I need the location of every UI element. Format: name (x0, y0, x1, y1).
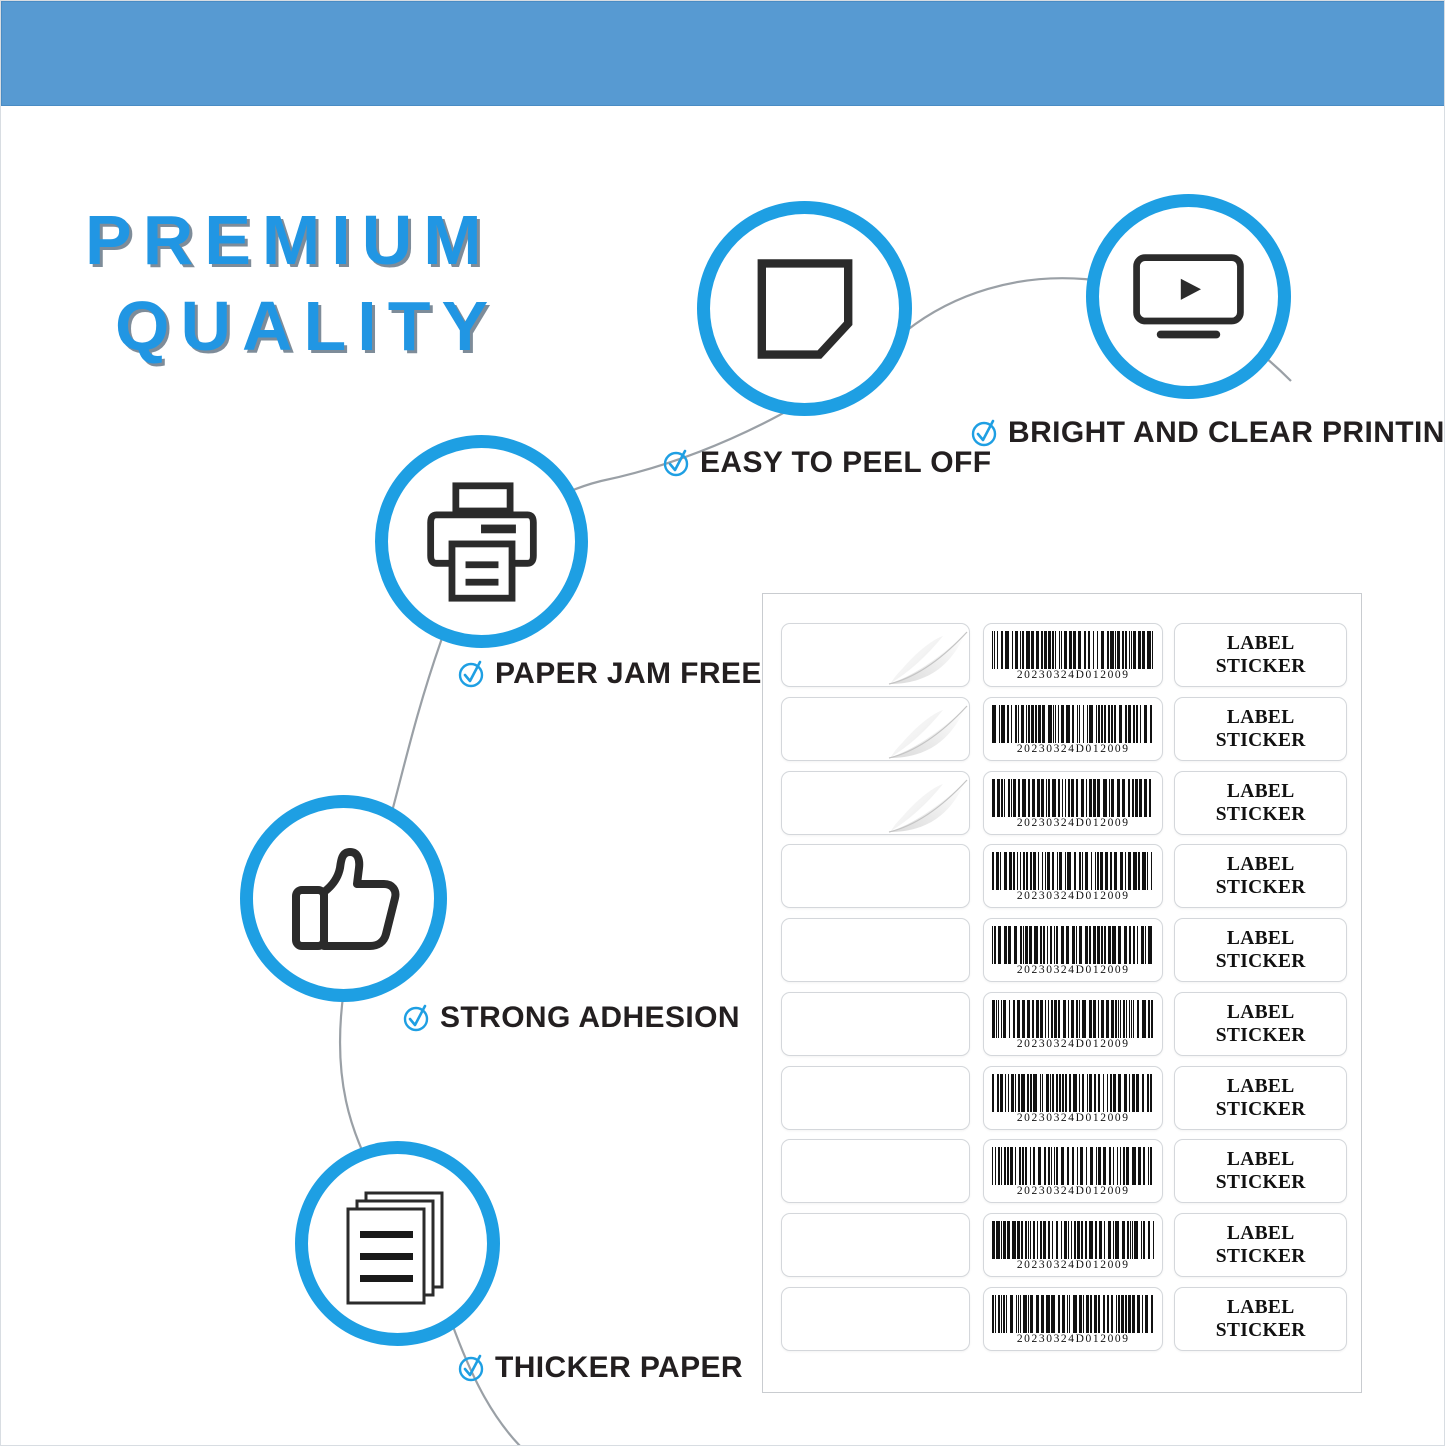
table-row: 20230324D012009LABELSTICKER (781, 843, 1347, 909)
barcode-label-cell[interactable]: 20230324D012009 (983, 918, 1163, 982)
label-text: LABELSTICKER (1216, 1001, 1306, 1047)
barcode-label-cell[interactable]: 20230324D012009 (983, 1287, 1163, 1351)
barcode-image (990, 1074, 1156, 1112)
barcode-label-cell[interactable]: 20230324D012009 (983, 623, 1163, 687)
barcode-image (990, 926, 1156, 964)
barcode-number: 20230324D012009 (1017, 1186, 1130, 1197)
barcode-image (990, 852, 1156, 890)
bubble-thicker-paper (295, 1141, 500, 1346)
label-text: LABELSTICKER (1216, 632, 1306, 678)
label-text: LABELSTICKER (1216, 1296, 1306, 1342)
bubble-paper-jam-free (375, 435, 588, 648)
blank-label-cell[interactable] (781, 918, 970, 982)
title-line-1: PREMIUM (85, 197, 705, 283)
blank-label-cell[interactable] (781, 623, 970, 687)
title-line-2: QUALITY (85, 283, 705, 369)
barcode-image (990, 705, 1156, 743)
blank-label-cell[interactable] (781, 697, 970, 761)
blank-label-cell[interactable] (781, 771, 970, 835)
caption-thicker-paper: THICKER PAPER (456, 1351, 743, 1385)
infographic-page: EASY TO PEEL OFF BRIGHT AND CLEAR PRINTI… (0, 0, 1445, 1446)
blank-label-cell[interactable] (781, 1287, 970, 1351)
top-color-band (1, 1, 1445, 106)
table-row: 20230324D012009LABELSTICKER (781, 991, 1347, 1057)
caption-bright-and-clear: BRIGHT AND CLEAR PRINTING (969, 416, 1445, 450)
blank-label-cell[interactable] (781, 992, 970, 1056)
barcode-label-cell[interactable]: 20230324D012009 (983, 1213, 1163, 1277)
text-label-cell[interactable]: LABELSTICKER (1174, 1213, 1347, 1277)
peel-corner-icon (879, 626, 969, 686)
blank-label-cell[interactable] (781, 1139, 970, 1203)
caption-label: EASY TO PEEL OFF (700, 446, 991, 480)
barcode-label-cell[interactable]: 20230324D012009 (983, 771, 1163, 835)
bubble-bright-and-clear (1086, 194, 1291, 399)
label-text: LABELSTICKER (1216, 1148, 1306, 1194)
barcode-number: 20230324D012009 (1017, 670, 1130, 681)
table-row: 20230324D012009LABELSTICKER (781, 1212, 1347, 1278)
caption-paper-jam-free: PAPER JAM FREE (456, 657, 762, 691)
barcode-number: 20230324D012009 (1017, 1260, 1130, 1271)
barcode-label-cell[interactable]: 20230324D012009 (983, 697, 1163, 761)
label-text: LABELSTICKER (1216, 706, 1306, 752)
bubble-easy-to-peel-off (697, 201, 912, 416)
text-label-cell[interactable]: LABELSTICKER (1174, 844, 1347, 908)
table-row: 20230324D012009LABELSTICKER (781, 1138, 1347, 1204)
barcode-number: 20230324D012009 (1017, 965, 1130, 976)
table-row: 20230324D012009LABELSTICKER (781, 622, 1347, 688)
barcode-number: 20230324D012009 (1017, 891, 1130, 902)
thumbs-up-icon (280, 838, 408, 960)
barcode-number: 20230324D012009 (1017, 1334, 1130, 1345)
text-label-cell[interactable]: LABELSTICKER (1174, 697, 1347, 761)
peel-corner-icon (879, 774, 969, 834)
barcode-image (990, 1221, 1156, 1259)
monitor-play-icon (1126, 242, 1251, 352)
text-label-cell[interactable]: LABELSTICKER (1174, 771, 1347, 835)
paper-stack-icon (336, 1183, 460, 1305)
check-circle-icon (661, 448, 691, 478)
page-title: PREMIUM QUALITY (85, 197, 705, 369)
table-row: 20230324D012009LABELSTICKER (781, 696, 1347, 762)
label-sheet: 20230324D012009LABELSTICKER20230324D0120… (762, 593, 1362, 1393)
barcode-label-cell[interactable]: 20230324D012009 (983, 844, 1163, 908)
peel-tag-icon (745, 249, 865, 369)
bubble-strong-adhesion (240, 795, 447, 1002)
barcode-number: 20230324D012009 (1017, 1039, 1130, 1050)
caption-label: BRIGHT AND CLEAR PRINTING (1008, 416, 1445, 450)
table-row: 20230324D012009LABELSTICKER (781, 917, 1347, 983)
barcode-label-cell[interactable]: 20230324D012009 (983, 1139, 1163, 1203)
barcode-image (990, 1295, 1156, 1333)
table-row: 20230324D012009LABELSTICKER (781, 770, 1347, 836)
check-circle-icon (969, 418, 999, 448)
text-label-cell[interactable]: LABELSTICKER (1174, 918, 1347, 982)
text-label-cell[interactable]: LABELSTICKER (1174, 1139, 1347, 1203)
text-label-cell[interactable]: LABELSTICKER (1174, 992, 1347, 1056)
check-circle-icon (456, 1353, 486, 1383)
blank-label-cell[interactable] (781, 1066, 970, 1130)
text-label-cell[interactable]: LABELSTICKER (1174, 623, 1347, 687)
label-grid: 20230324D012009LABELSTICKER20230324D0120… (781, 622, 1347, 1352)
barcode-image (990, 1000, 1156, 1038)
barcode-number: 20230324D012009 (1017, 1113, 1130, 1124)
printer-icon (419, 480, 545, 604)
barcode-number: 20230324D012009 (1017, 818, 1130, 829)
barcode-image (990, 779, 1156, 817)
text-label-cell[interactable]: LABELSTICKER (1174, 1287, 1347, 1351)
caption-strong-adhesion: STRONG ADHESION (401, 1001, 740, 1035)
label-text: LABELSTICKER (1216, 927, 1306, 973)
label-text: LABELSTICKER (1216, 853, 1306, 899)
caption-label: THICKER PAPER (495, 1351, 743, 1385)
blank-label-cell[interactable] (781, 1213, 970, 1277)
label-text: LABELSTICKER (1216, 1075, 1306, 1121)
table-row: 20230324D012009LABELSTICKER (781, 1065, 1347, 1131)
caption-label: PAPER JAM FREE (495, 657, 762, 691)
barcode-image (990, 631, 1156, 669)
caption-easy-to-peel-off: EASY TO PEEL OFF (661, 446, 991, 480)
table-row: 20230324D012009LABELSTICKER (781, 1286, 1347, 1352)
peel-corner-icon (879, 700, 969, 760)
check-circle-icon (401, 1003, 431, 1033)
caption-label: STRONG ADHESION (440, 1001, 740, 1035)
barcode-label-cell[interactable]: 20230324D012009 (983, 1066, 1163, 1130)
label-text: LABELSTICKER (1216, 780, 1306, 826)
barcode-label-cell[interactable]: 20230324D012009 (983, 992, 1163, 1056)
barcode-number: 20230324D012009 (1017, 744, 1130, 755)
text-label-cell[interactable]: LABELSTICKER (1174, 1066, 1347, 1130)
blank-label-cell[interactable] (781, 844, 970, 908)
label-text: LABELSTICKER (1216, 1222, 1306, 1268)
check-circle-icon (456, 659, 486, 689)
barcode-image (990, 1147, 1156, 1185)
